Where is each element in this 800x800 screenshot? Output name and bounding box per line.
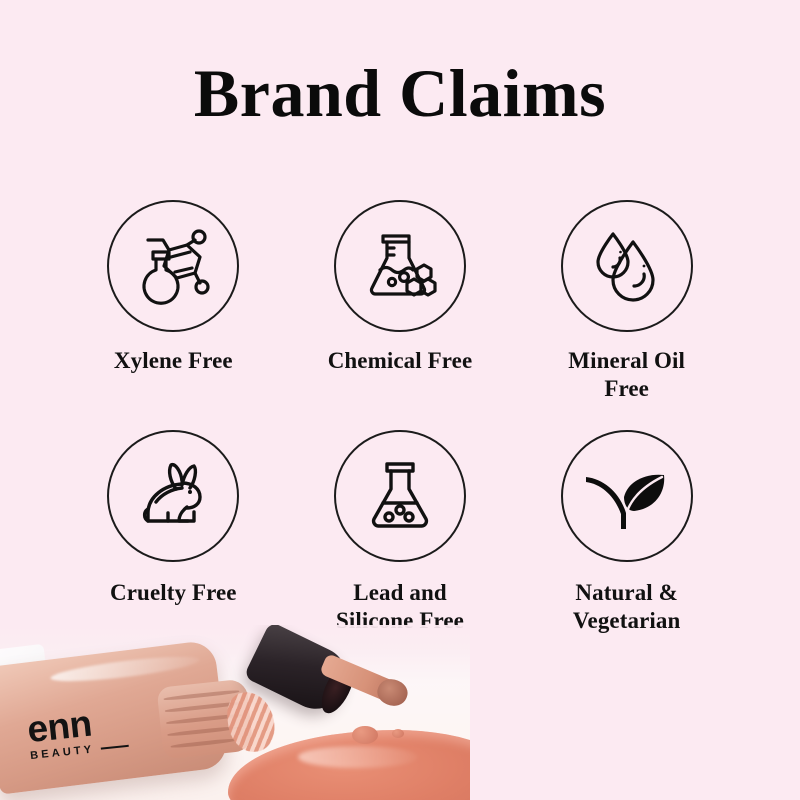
polish-droplet	[352, 726, 378, 744]
claims-grid: Xylene Free	[60, 200, 740, 660]
rabbit-icon	[132, 455, 214, 537]
brand-lockup: enn BEAUTY	[26, 702, 130, 762]
brush-tip	[374, 675, 412, 711]
puddle-gloss	[298, 746, 418, 768]
cap-mouth	[315, 659, 360, 718]
polish-droplet	[392, 729, 404, 738]
claim-label: Lead andSilicone Free	[336, 579, 464, 635]
leaf-sprout-icon	[584, 453, 670, 539]
claim-label: Mineral OilFree	[568, 347, 685, 403]
claim-icon-circle	[561, 430, 693, 562]
claim-lead-silicone-free: Lead andSilicone Free	[287, 430, 514, 660]
claim-natural-vegetarian: Natural &Vegetarian	[513, 430, 740, 660]
claim-icon-circle	[561, 200, 693, 332]
brand-rule	[101, 745, 129, 750]
erlenmeyer-bubbles-icon	[361, 457, 439, 535]
claim-mineral-oil-free: Mineral OilFree	[513, 200, 740, 430]
claim-chemical-free: Chemical Free	[287, 200, 514, 430]
water-droplets-icon	[587, 226, 667, 306]
claim-label: Chemical Free	[328, 347, 473, 375]
claim-label: Cruelty Free	[110, 579, 237, 607]
brand-subtitle: BEAUTY	[30, 744, 95, 763]
bottle-neck	[156, 678, 253, 759]
claim-icon-circle	[107, 200, 239, 332]
claim-icon-circle	[334, 430, 466, 562]
brand-subtitle-row: BEAUTY	[30, 740, 130, 762]
brand-name: enn	[26, 702, 129, 747]
polish-bottle	[0, 639, 229, 794]
bottle-glass-base	[0, 644, 60, 791]
flask-molecule-icon	[133, 226, 213, 306]
claim-icon-circle	[334, 200, 466, 332]
claim-label: Xylene Free	[114, 347, 233, 375]
claim-xylene-free: Xylene Free	[60, 200, 287, 430]
polish-brush	[319, 653, 407, 707]
brand-claims-page: Brand Claims	[0, 0, 800, 800]
erlenmeyer-hexagons-icon	[360, 226, 440, 306]
claim-icon-circle	[107, 430, 239, 562]
claim-label: Natural &Vegetarian	[573, 579, 680, 635]
page-title: Brand Claims	[0, 58, 800, 129]
polish-smear	[225, 690, 277, 754]
claim-cruelty-free: Cruelty Free	[60, 430, 287, 660]
polish-puddle	[228, 730, 470, 800]
